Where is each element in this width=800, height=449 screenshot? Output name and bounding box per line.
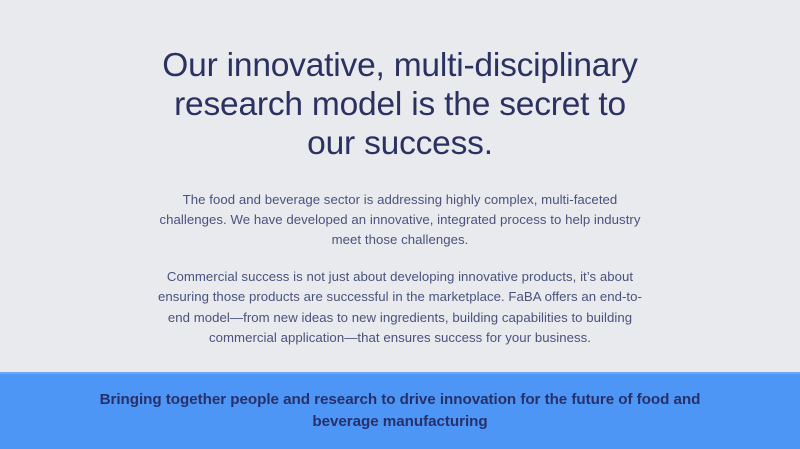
slide-body-text-block: The food and beverage sector is addressi… [150, 190, 650, 348]
body-paragraph-2: Commercial success is not just about dev… [150, 267, 650, 348]
footer-banner-tagline: Bringing together people and research to… [80, 389, 720, 434]
slide-content-area: Our innovative, multi-disciplinary resea… [0, 0, 800, 372]
body-paragraph-1: The food and beverage sector is addressi… [150, 190, 650, 251]
slide-headline: Our innovative, multi-disciplinary resea… [150, 0, 650, 164]
slide-canvas: Our innovative, multi-disciplinary resea… [0, 0, 800, 449]
footer-banner: Bringing together people and research to… [0, 372, 800, 449]
